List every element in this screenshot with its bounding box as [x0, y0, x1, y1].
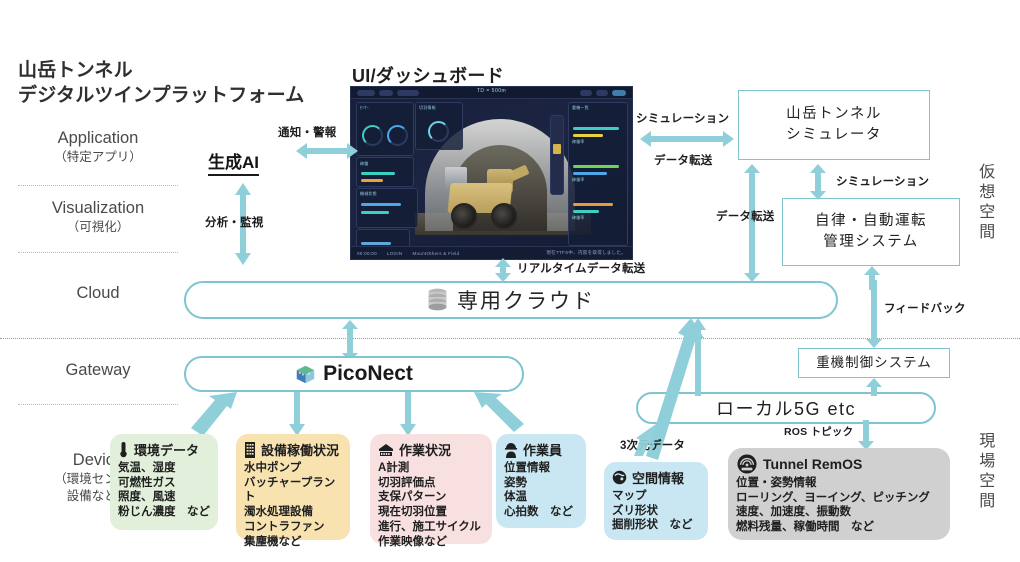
cloud-node-label: 専用クラウド: [457, 285, 595, 315]
device-card-environment-title: 環境データ: [134, 440, 199, 459]
dashboard-title: UI/ダッシュボード: [352, 62, 504, 88]
simulator-node-line2: シミュレータ: [786, 125, 882, 146]
piconect-cube-icon: [295, 364, 316, 385]
simulator-node-content: 山岳トンネル シミュレータ: [786, 104, 882, 146]
device-card-spatial-title: 空間情報: [632, 468, 684, 487]
device-card-spatial[interactable]: 空間情報 マップ ズリ形状 掘削形状 など: [604, 462, 708, 540]
dashboard-panel-upper-mid[interactable]: 切羽情報: [415, 102, 463, 150]
dashboard-panel-left-top[interactable]: ｾﾝｻｰ: [356, 102, 414, 156]
device-card-worker-header: 作業員: [504, 440, 578, 459]
ros-topic-arrow: [856, 420, 876, 450]
device-card-worker-title: 作業員: [523, 440, 562, 459]
signal-dome-icon: [736, 454, 758, 474]
data-transfer-left-label: データ転送: [654, 152, 713, 168]
device-card-tunnel-remos-title: Tunnel RemOS: [763, 456, 862, 472]
dashboard-panel-center-right[interactable]: [550, 115, 564, 195]
cloud-node-content: 専用クラウド: [427, 285, 595, 315]
device-card-worker[interactable]: 作業員 位置情報 姿勢 体温 心拍数 など: [496, 434, 586, 528]
rule-visualization-cloud: [18, 252, 178, 253]
device-card-equipment-title: 設備稼働状況: [261, 440, 339, 459]
device-card-tunnel-remos-line-1: ローリング、ヨーイング、ピッチング: [736, 491, 942, 506]
ros-topic-label: ROS トピック: [784, 424, 853, 439]
page-title-line1: 山岳トンネル: [18, 58, 338, 83]
machine-control-node-label: 重機制御システム: [816, 353, 932, 373]
device-card-environment-line-1: 可燃性ガス: [118, 476, 210, 491]
device-arrow-work-status: [398, 392, 418, 436]
device-card-environment-header: 環境データ: [118, 440, 210, 459]
device-card-tunnel-remos-line-0: 位置・姿勢情報: [736, 476, 942, 491]
device-card-spatial-line-1: ズリ形状: [612, 504, 700, 519]
device-card-spatial-line-2: 掘削形状 など: [612, 518, 700, 533]
dashboard-footer-item-2: MountOthers & Field: [412, 251, 459, 256]
local5g-device-arrow: [634, 420, 668, 456]
dashboard-footer: 00:00:00 LOGIN MountOthers & Field 現在TTF…: [351, 246, 632, 259]
realtime-arrow-label: リアルタイムデータ転送: [517, 260, 645, 276]
cloud-node[interactable]: 専用クラウド: [184, 281, 838, 319]
dashboard-topbar: TD = 500m: [351, 87, 632, 99]
device-card-spatial-line-0: マップ: [612, 489, 700, 504]
dashboard-panel-right[interactable]: 重機一覧 稼働率 稼働率 稼働率: [568, 102, 628, 246]
autodrive-node-content: 自律・自動運転 管理システム: [815, 211, 927, 253]
device-arrow-worker: [474, 392, 530, 436]
device-card-tunnel-remos-line-2: 速度、加速度、振動数: [736, 505, 942, 520]
notify-arrow: [296, 140, 358, 162]
device-card-work-status-title: 作業状況: [399, 440, 451, 459]
autodrive-node-line2: 管理システム: [815, 232, 927, 253]
device-card-equipment[interactable]: 設備稼働状況 水中ポンプ バッチャープラント 濁水処理設備 コントラファン 集塵…: [236, 434, 350, 540]
device-card-work-status[interactable]: 作業状況 A計測 切羽評価点 支保パターン 現在切羽位置 進行、施工サイクル 作…: [370, 434, 492, 544]
layer-label-visualization-jp: （可視化）: [8, 219, 188, 235]
device-card-environment-line-3: 粉じん濃度 など: [118, 505, 210, 520]
ui-dashboard-screenshot[interactable]: TD = 500m ｾﾝｻｰ: [350, 86, 633, 260]
simulation-left-label: シミュレーション: [636, 110, 729, 126]
globe-scan-icon: [612, 470, 627, 485]
dashboard-panel-left-mid[interactable]: 稼働: [356, 157, 414, 187]
dashboard-footer-item-1: LOGIN: [387, 251, 403, 256]
layer-label-cloud-en: Cloud: [8, 283, 188, 304]
page-title: 山岳トンネル デジタルツインプラットフォーム: [18, 58, 338, 108]
device-card-environment-line-0: 気温、湿度: [118, 461, 210, 476]
page-title-line2: デジタルツインプラットフォーム: [18, 83, 338, 108]
device-card-equipment-line-4: 集塵機など: [244, 535, 342, 550]
layer-label-visualization: Visualization （可視化）: [8, 198, 188, 236]
device-card-worker-line-1: 姿勢: [504, 476, 578, 491]
dashboard-td-label: TD = 500m: [477, 88, 506, 94]
device-card-work-status-line-4: 進行、施工サイクル: [378, 520, 484, 535]
gateway-node[interactable]: PicoNect: [184, 356, 524, 392]
local5g-cloud-arrow: [688, 318, 708, 396]
dashboard-footer-item-3: 現在TTFS中、内容を取得しました。: [546, 250, 626, 256]
layer-label-gateway-en: Gateway: [8, 360, 188, 381]
layer-label-application-en: Application: [8, 128, 188, 149]
layer-label-application-jp: （特定アプリ）: [8, 149, 188, 165]
rule-gateway-device: [18, 404, 178, 405]
virtual-space-label: 仮想空間: [975, 163, 994, 243]
device-card-work-status-line-0: A計測: [378, 461, 484, 476]
gateway-node-label: PicoNect: [323, 362, 413, 386]
analyze-arrow-label: 分析・監視: [205, 214, 264, 230]
building-icon: [244, 441, 256, 458]
simulator-node[interactable]: 山岳トンネル シミュレータ: [738, 90, 930, 160]
layer-label-cloud: Cloud: [8, 283, 188, 304]
field-space-label: 現場空間: [975, 432, 994, 512]
device-card-equipment-line-2: 濁水処理設備: [244, 505, 342, 520]
machine-control-node[interactable]: 重機制御システム: [798, 348, 950, 378]
device-arrow-environment: [183, 392, 237, 436]
device-arrow-equipment: [287, 392, 307, 436]
simulation-left-arrow: [640, 128, 734, 150]
device-card-work-status-line-2: 支保パターン: [378, 490, 484, 505]
device-card-tunnel-remos[interactable]: Tunnel RemOS 位置・姿勢情報 ローリング、ヨーイング、ピッチング 速…: [728, 448, 950, 540]
simulator-node-line1: 山岳トンネル: [786, 104, 882, 125]
rule-application-visualization: [18, 185, 178, 186]
layer-label-application: Application （特定アプリ）: [8, 128, 188, 166]
device-card-work-status-line-3: 現在切羽位置: [378, 505, 484, 520]
device-card-work-status-line-1: 切羽評価点: [378, 476, 484, 491]
device-card-equipment-line-0: 水中ポンプ: [244, 461, 342, 476]
device-card-equipment-line-1: バッチャープラント: [244, 476, 342, 505]
device-card-worker-line-3: 心拍数 など: [504, 505, 578, 520]
tunnel-house-icon: [378, 443, 394, 457]
device-card-environment-line-2: 照度、風速: [118, 490, 210, 505]
simulation-right-arrow: [808, 164, 828, 200]
device-card-work-status-line-5: 作業映像など: [378, 535, 484, 550]
device-card-spatial-header: 空間情報: [612, 468, 700, 487]
autodrive-node[interactable]: 自律・自動運転 管理システム: [782, 198, 960, 266]
tunnel-machine-model: [443, 155, 537, 229]
thermometer-icon: [118, 441, 129, 458]
device-card-tunnel-remos-line-3: 燃料残量、稼働時間 など: [736, 520, 942, 535]
worker-icon: [504, 442, 518, 458]
realtime-arrow: [493, 258, 513, 282]
autodrive-node-line1: 自律・自動運転: [815, 211, 927, 232]
feedback-arrow: [864, 280, 884, 348]
local5g-node-label: ローカル5G etc: [716, 395, 856, 421]
device-card-equipment-line-3: コントラファン: [244, 520, 342, 535]
device-card-environment[interactable]: 環境データ 気温、湿度 可燃性ガス 照度、風速 粉じん濃度 など: [110, 434, 218, 530]
layer-label-gateway: Gateway: [8, 360, 188, 381]
autodrive-local5g-arrow: [862, 266, 882, 290]
device-card-tunnel-remos-header: Tunnel RemOS: [736, 454, 942, 474]
device-card-work-status-header: 作業状況: [378, 440, 484, 459]
diagram-canvas: 山岳トンネル デジタルツインプラットフォーム UI/ダッシュボード Applic…: [0, 0, 1020, 562]
simulation-right-label: シミュレーション: [836, 173, 929, 189]
device-card-worker-line-0: 位置情報: [504, 461, 578, 476]
layer-label-visualization-en: Visualization: [8, 198, 188, 219]
gateway-node-content: PicoNect: [295, 362, 413, 386]
gen-ai-node[interactable]: 生成AI: [208, 148, 259, 176]
device-card-worker-line-2: 体温: [504, 490, 578, 505]
feedback-arrow-label: フィードバック: [884, 300, 966, 316]
notify-arrow-label: 通知・警報: [278, 124, 337, 140]
local5g-machine-control-arrow: [864, 378, 884, 396]
dashboard-footer-item-0: 00:00:00: [357, 251, 377, 256]
data-transfer-mid-label: データ転送: [716, 208, 775, 224]
database-icon: [427, 288, 448, 312]
device-card-equipment-header: 設備稼働状況: [244, 440, 342, 459]
dashboard-panel-left-bottom[interactable]: 機械状態: [356, 188, 418, 228]
